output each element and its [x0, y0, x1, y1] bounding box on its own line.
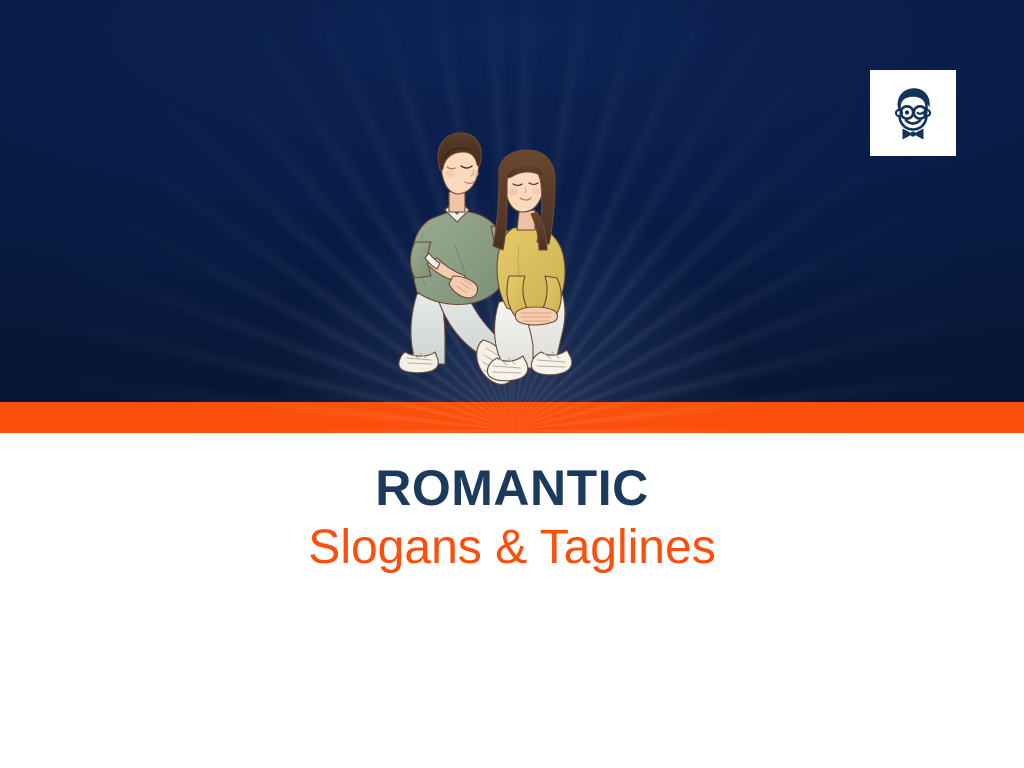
couple-illustration-art: [387, 126, 647, 402]
orange-light-rays: [0, 402, 1024, 433]
page-title: ROMANTIC: [0, 462, 1024, 514]
brand-logo[interactable]: [870, 70, 956, 156]
page-subtitle: Slogans & Taglines: [0, 522, 1024, 574]
slide-canvas: ROMANTIC Slogans & Taglines: [0, 0, 1024, 768]
orange-divider-bar: [0, 402, 1024, 433]
couple-illustration: [387, 126, 647, 402]
hero-banner: [0, 0, 1024, 402]
boy-with-glasses-bowtie-icon: [882, 82, 944, 144]
title-block: ROMANTIC Slogans & Taglines: [0, 433, 1024, 574]
